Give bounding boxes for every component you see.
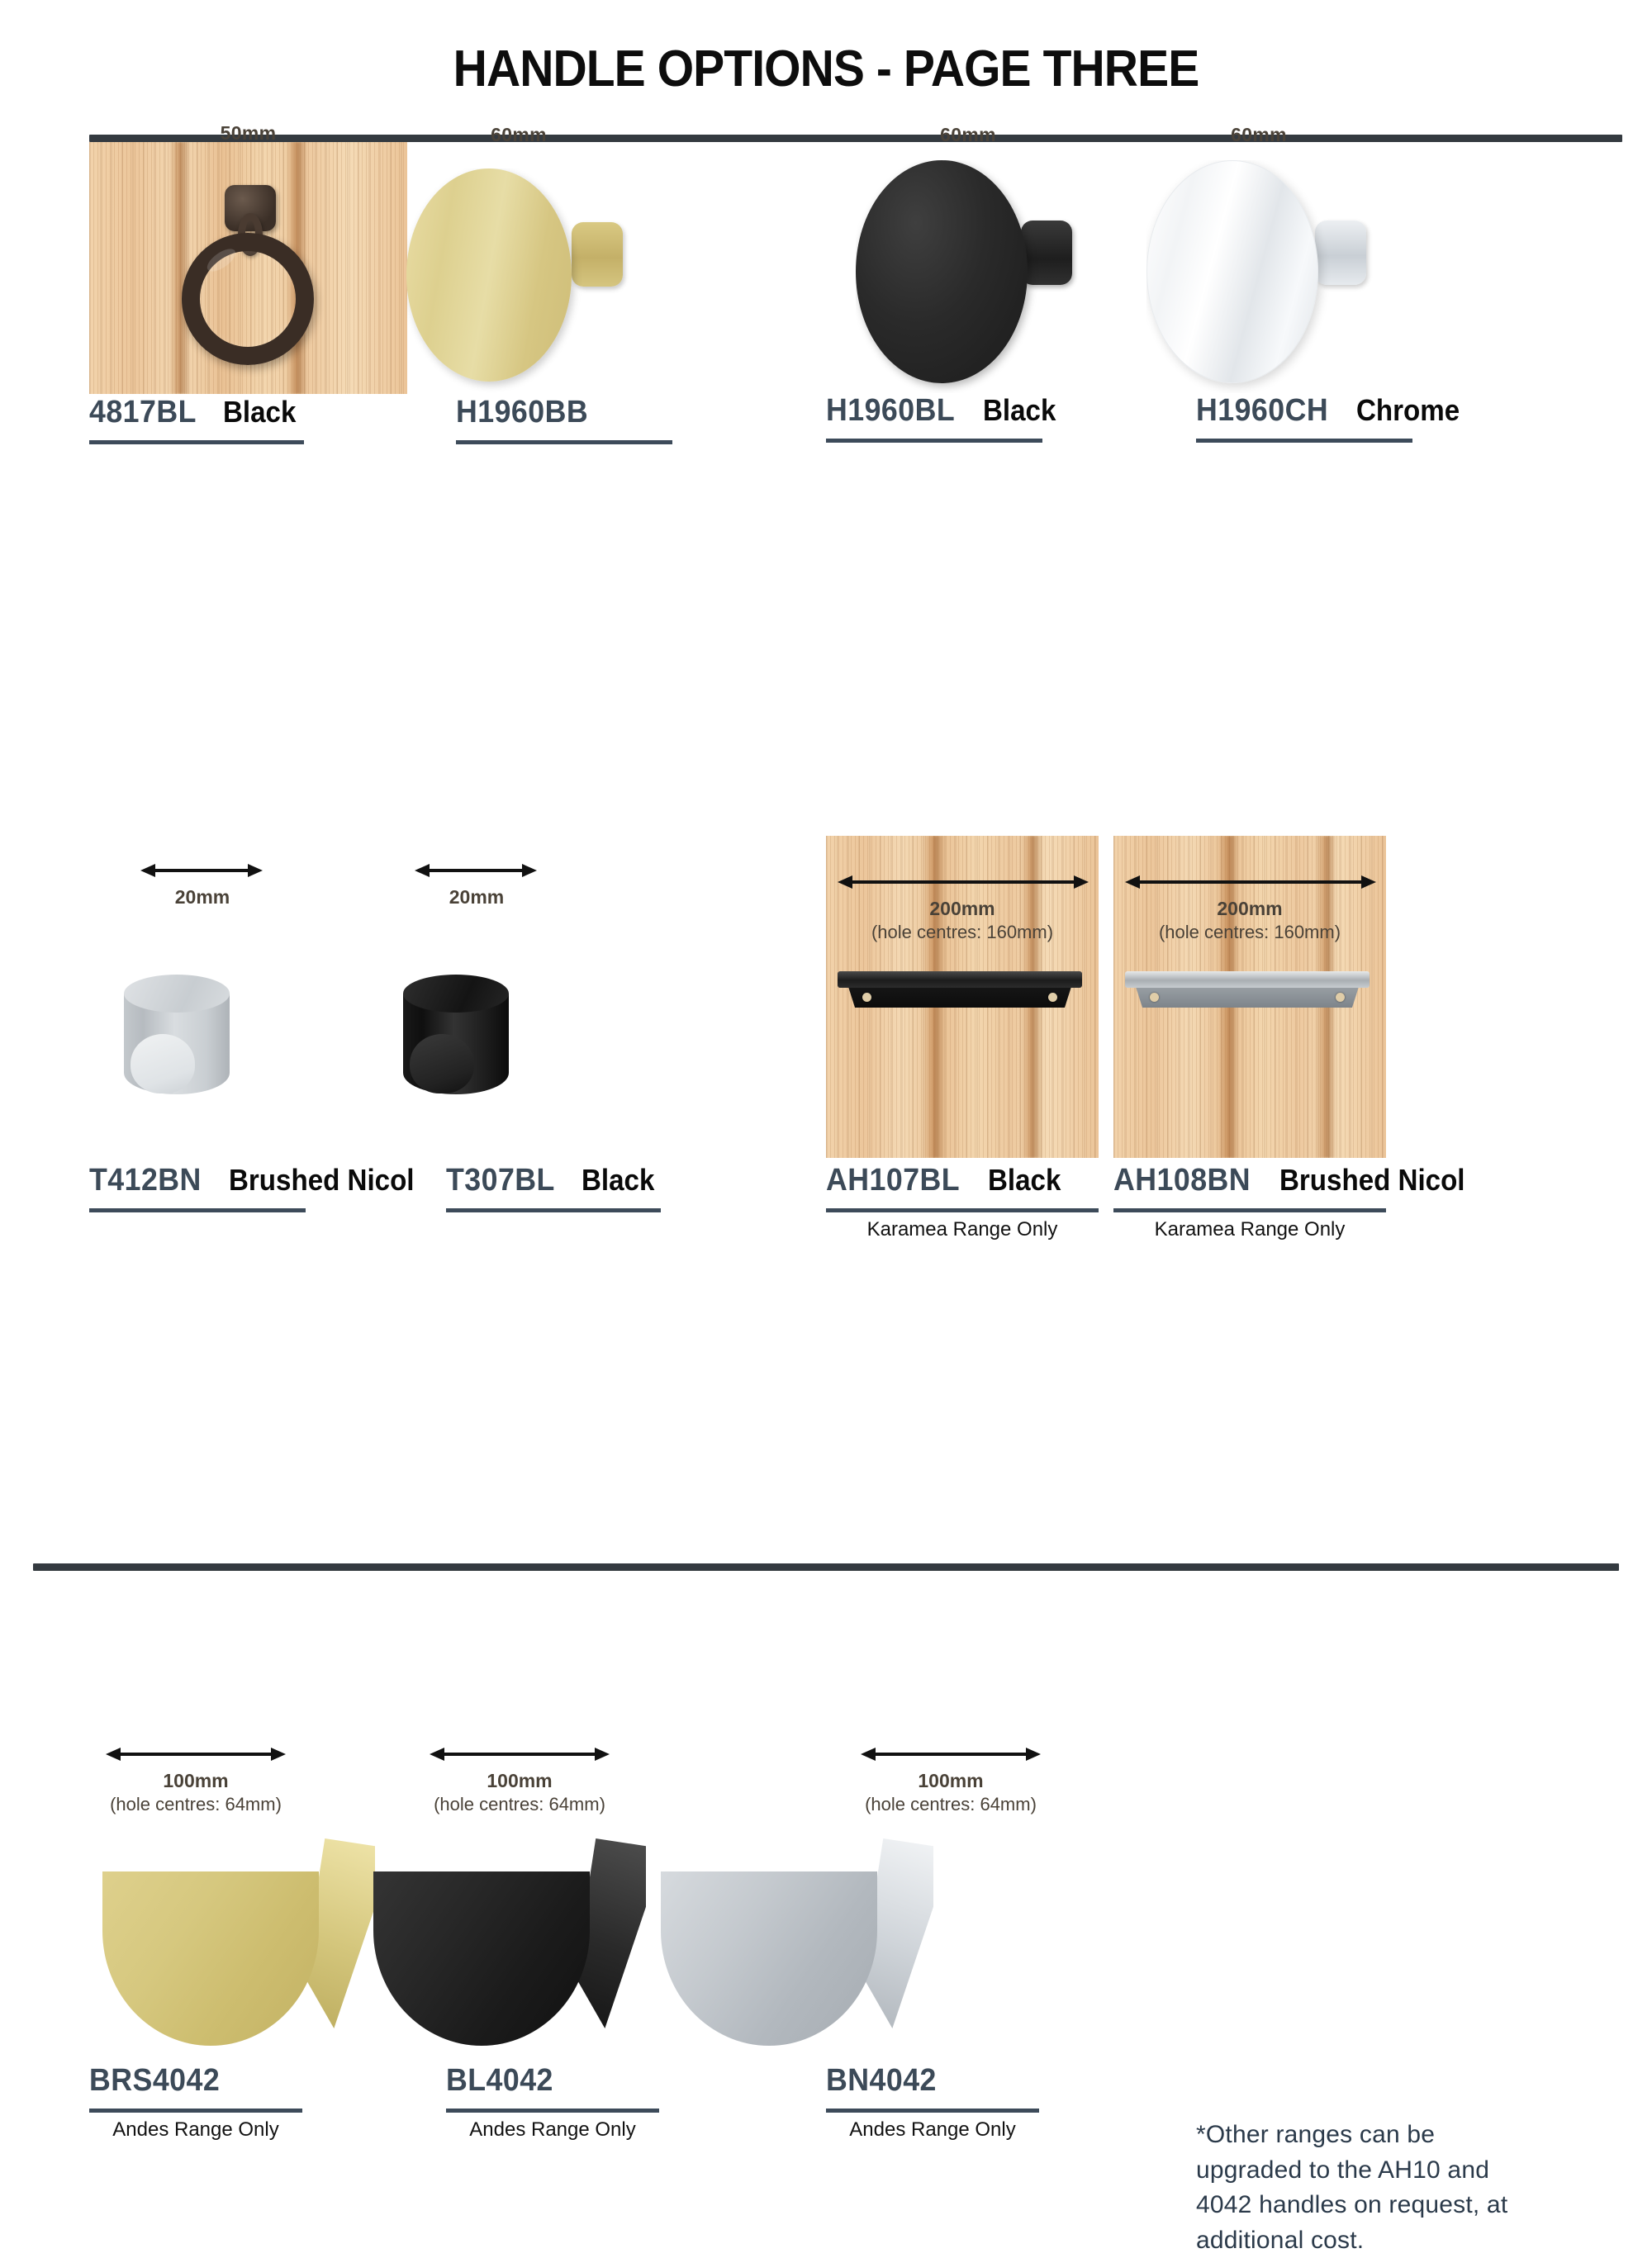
knob-stem-icon [1315, 221, 1366, 285]
product-code: 4817BL [89, 395, 197, 430]
range-note: Andes Range Only [89, 2118, 302, 2142]
dimension-label-h1960ch: 60mm [1110, 124, 1408, 146]
dimension-subvalue: (hole centres: 64mm) [89, 1793, 302, 1816]
product-card-h1960ch[interactable]: 60mm [1146, 160, 1374, 393]
range-note: Andes Range Only [446, 2118, 659, 2142]
product-image-h1960ch [1146, 160, 1374, 393]
dimension-label-h1960bb: 60mm [370, 124, 667, 146]
knob-stem-icon [572, 222, 623, 287]
caption-underline [89, 2109, 302, 2113]
cup-handle-brushed-nicol-icon [661, 1835, 933, 2046]
dimension-text: 100mm (hole centres: 64mm) [89, 1769, 302, 1815]
caption-h1960bb: H1960BB [456, 395, 672, 444]
dimension-value: 100mm [487, 1770, 552, 1791]
page-title: HANDLE OPTIONS - PAGE THREE [66, 0, 1586, 98]
product-card-h1960bl[interactable]: 60mm [856, 160, 1084, 393]
product-row-2: 20mm 20mm [0, 543, 1652, 1054]
product-code: H1960BB [456, 395, 588, 430]
caption-underline [446, 2109, 659, 2113]
product-code: BN4042 [826, 2063, 937, 2099]
dimension-value: 20mm [175, 886, 230, 908]
caption-underline [826, 2109, 1039, 2113]
dimension-subvalue: (hole centres: 160mm) [1113, 921, 1386, 944]
product-row-3: 100mm (hole centres: 64mm) 100mm (hole c… [0, 1054, 1652, 1516]
caption-underline [1196, 439, 1412, 443]
dimension-arrow-icon [106, 1748, 286, 1761]
dimension-value: 100mm [918, 1770, 983, 1791]
caption-h1960bl: H1960BL Black [826, 393, 1042, 443]
dimension-arrow-icon [861, 1748, 1041, 1761]
product-finish: Black [983, 393, 1056, 428]
dimension-label-h1960bl: 60mm [819, 124, 1117, 146]
dimension-value: 100mm [163, 1770, 228, 1791]
dimension-text: 20mm [89, 885, 316, 909]
dimension-text: 200mm (hole centres: 160mm) [1113, 897, 1386, 943]
caption-brs4042: BRS4042 Andes Range Only [89, 2063, 302, 2142]
dimension-arrow-icon [140, 864, 263, 877]
footer-divider [33, 1563, 1619, 1571]
product-code: H1960BL [826, 393, 955, 429]
dimension-arrow-icon [430, 1748, 610, 1761]
round-disc-knob-black-icon [856, 160, 1028, 383]
dimension-value: 20mm [449, 886, 504, 908]
dimension-text: 100mm (hole centres: 64mm) [844, 1769, 1057, 1815]
product-code: BRS4042 [89, 2063, 220, 2099]
product-card-h1960bb[interactable]: 60mm [406, 168, 634, 393]
product-finish: Black [223, 395, 296, 429]
upgrade-footnote: *Other ranges can be upgraded to the AH1… [1196, 2118, 1518, 2258]
dimension-subvalue: (hole centres: 64mm) [413, 1793, 626, 1816]
round-disc-knob-brass-icon [406, 168, 572, 382]
round-disc-knob-chrome-icon [1146, 160, 1318, 383]
product-finish: Chrome [1356, 393, 1460, 428]
cup-handle-brass-icon [102, 1835, 375, 2046]
product-row-1: 50mm 60mm 60mm 60mm [0, 147, 1652, 543]
ring-pull-handle-icon [182, 233, 314, 365]
dimension-text: 20mm [363, 885, 590, 909]
bar-handle-black-icon [838, 971, 1082, 1009]
caption-4817bl: 4817BL Black [89, 395, 304, 444]
bar-handle-brushed-nicol-icon [1125, 971, 1370, 1009]
dimension-subvalue: (hole centres: 160mm) [826, 921, 1099, 944]
product-image-4817bl [89, 142, 407, 394]
range-note: Andes Range Only [826, 2118, 1039, 2142]
product-grid: 50mm 60mm 60mm 60mm [0, 147, 1652, 1516]
caption-bn4042: BN4042 Andes Range Only [826, 2063, 1039, 2142]
dimension-text: 200mm (hole centres: 160mm) [826, 897, 1099, 943]
caption-underline [89, 440, 304, 444]
dimension-label-4817bl: 50mm [89, 122, 407, 145]
dimension-value: 200mm [1217, 898, 1282, 919]
knob-stem-icon [1021, 221, 1072, 285]
caption-underline [826, 439, 1042, 443]
dimension-text: 100mm (hole centres: 64mm) [413, 1769, 626, 1815]
product-card-4817bl[interactable]: 50mm [89, 142, 407, 394]
product-image-h1960bb [406, 168, 634, 393]
caption-bl4042: BL4042 Andes Range Only [446, 2063, 659, 2142]
product-code: H1960CH [1196, 393, 1328, 429]
cup-handle-black-icon [373, 1835, 646, 2046]
caption-underline [456, 440, 672, 444]
product-code: BL4042 [446, 2063, 553, 2099]
dimension-subvalue: (hole centres: 64mm) [844, 1793, 1057, 1816]
product-image-h1960bl [856, 160, 1084, 393]
dimension-value: 200mm [929, 898, 995, 919]
dimension-arrow-icon [838, 875, 1089, 889]
dimension-arrow-icon [1125, 875, 1376, 889]
caption-h1960ch: H1960CH Chrome [1196, 393, 1412, 443]
dimension-arrow-icon [415, 864, 537, 877]
